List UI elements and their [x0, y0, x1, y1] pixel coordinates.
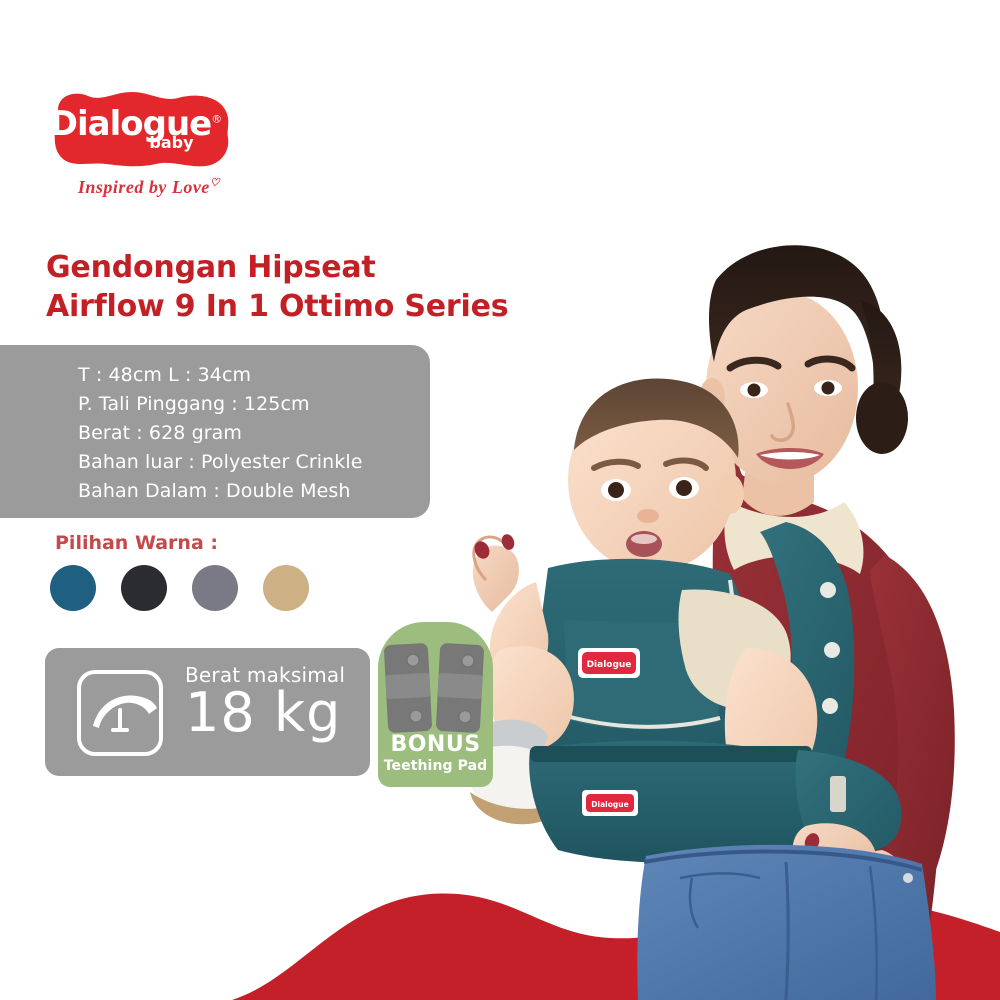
page-title: Gendongan Hipseat Airflow 9 In 1 Ottimo …	[46, 248, 606, 326]
logo-wordmark: Dialogue® baby	[44, 88, 239, 172]
max-weight-text: Berat maksimal 18 kg	[185, 665, 345, 742]
heart-icon: ♡	[210, 177, 220, 189]
svg-text:Dialogue: Dialogue	[591, 800, 628, 809]
bonus-badge: BONUS Teething Pad	[378, 622, 493, 787]
spec-item: Bahan Dalam : Double Mesh	[78, 477, 363, 506]
bonus-title: BONUS	[378, 734, 493, 756]
color-swatch-list	[50, 565, 309, 611]
spec-item: T : 48cm L : 34cm	[78, 361, 363, 390]
spec-item: Berat : 628 gram	[78, 419, 363, 448]
color-swatch-slate-gray[interactable]	[192, 565, 238, 611]
spec-item: Bahan luar : Polyester Crinkle	[78, 448, 363, 477]
spec-item: P. Tali Pinggang : 125cm	[78, 390, 363, 419]
brand-tagline: Inspired by Love♡	[64, 176, 234, 198]
brand-logo: Dialogue® baby Inspired by Love♡	[44, 88, 239, 208]
bonus-subtitle: Teething Pad	[378, 759, 493, 773]
title-line-2: Airflow 9 In 1 Ottimo Series	[46, 287, 606, 326]
teething-pad-right-icon	[436, 643, 485, 733]
teething-pad-left-icon	[384, 643, 433, 733]
color-swatch-charcoal-black[interactable]	[121, 565, 167, 611]
title-line-1: Gendongan Hipseat	[46, 248, 606, 287]
specification-list: T : 48cm L : 34cm P. Tali Pinggang : 125…	[78, 361, 363, 506]
logo-subword: baby	[149, 135, 193, 151]
color-options-label: Pilihan Warna :	[55, 532, 218, 554]
svg-text:Dialogue: Dialogue	[587, 660, 632, 670]
color-swatch-teal-blue[interactable]	[50, 565, 96, 611]
registered-mark-icon: ®	[211, 113, 221, 126]
color-swatch-khaki-beige[interactable]	[263, 565, 309, 611]
weighing-scale-icon	[75, 668, 165, 763]
max-weight-value: 18 kg	[185, 685, 345, 742]
logo-word: Dialogue®	[50, 107, 221, 141]
product-infographic: Dialogue Dialog	[0, 0, 1000, 1000]
